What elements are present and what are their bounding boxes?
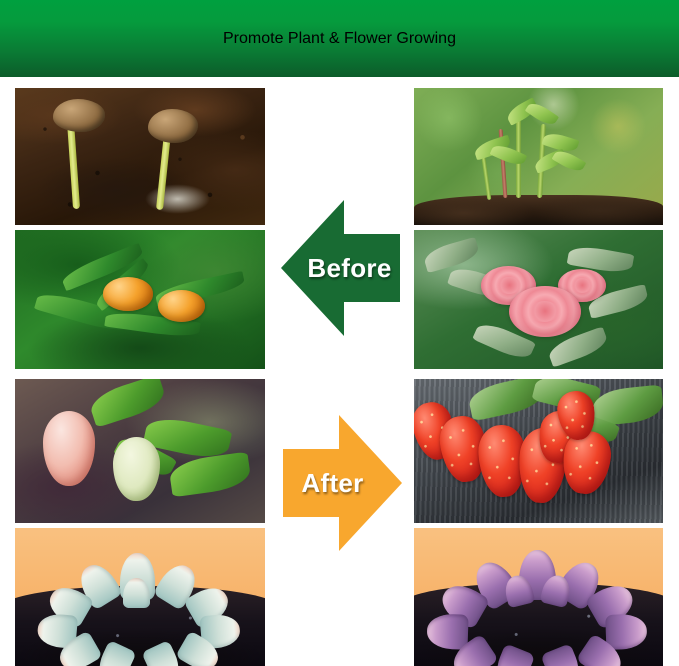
photo-after-purple-succulent xyxy=(414,528,663,666)
seed-husk-right xyxy=(148,109,198,143)
flower-bud-left xyxy=(103,277,153,310)
root-hairs xyxy=(145,184,210,214)
after-arrow-label: After xyxy=(301,468,383,499)
photo-after-ripe-strawberries xyxy=(414,379,663,523)
rose-center xyxy=(530,301,559,322)
rose-bloom-center xyxy=(509,286,581,337)
page-title: Promote Plant & Flower Growing xyxy=(223,30,456,48)
photo-after-healthy-seedlings xyxy=(414,88,663,225)
soil-specks xyxy=(15,88,265,225)
rose-center xyxy=(497,277,521,294)
unripe-strawberry-pink xyxy=(43,411,96,486)
photo-before-unripe-strawberries xyxy=(15,379,265,523)
header-banner: Promote Plant & Flower Growing xyxy=(0,0,679,77)
soil-strip xyxy=(414,195,663,225)
before-arrow: Before xyxy=(281,200,400,336)
before-arrow-label: Before xyxy=(289,253,391,284)
succulent-center-petal xyxy=(123,578,151,608)
photo-before-pale-succulent xyxy=(15,528,265,666)
seed-husk-left xyxy=(53,99,106,132)
rose-center xyxy=(572,278,593,293)
after-arrow: After xyxy=(283,415,402,551)
photo-before-flower-buds xyxy=(15,230,265,369)
flower-bud-right xyxy=(158,290,206,322)
photo-before-seedling-sprouts xyxy=(15,88,265,225)
photo-after-pink-roses xyxy=(414,230,663,369)
